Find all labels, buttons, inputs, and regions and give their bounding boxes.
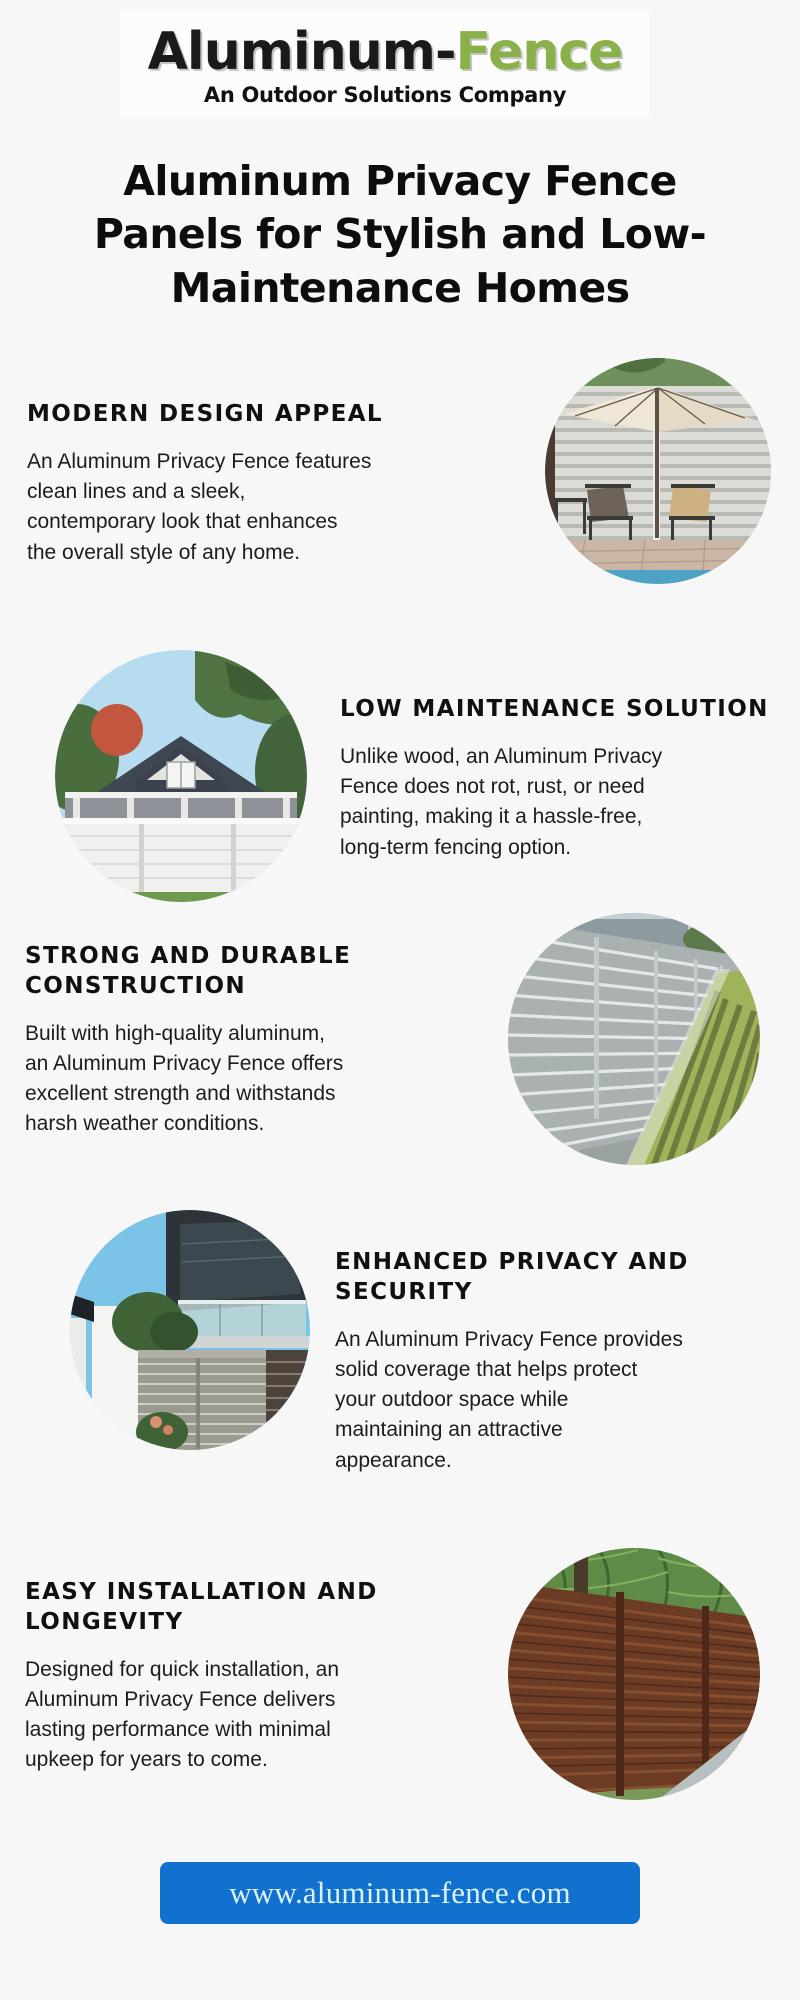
logo-word-fence: Fence	[456, 22, 623, 82]
section-heading: ENHANCED PRIVACY AND SECURITY	[335, 1248, 775, 1308]
logo-word-aluminum: Aluminum-	[148, 22, 456, 82]
white-privacy-fence-house-photo	[55, 650, 307, 902]
website-url-button[interactable]: www.aluminum-fence.com	[160, 1862, 640, 1924]
gray-slat-fence-lawn-photo	[508, 913, 760, 1165]
brand-logo: Aluminum-Fence An Outdoor Solutions Comp…	[120, 10, 650, 118]
logo-wordmark: Aluminum-Fence	[148, 25, 623, 80]
section-heading: MODERN DESIGN APPEAL	[27, 400, 467, 430]
page-title: Aluminum Privacy Fence Panels for Stylis…	[55, 155, 745, 315]
section-strong-and-durable-construction: STRONG AND DURABLE CONSTRUCTION Built wi…	[25, 942, 445, 1140]
section-heading: EASY INSTALLATION AND LONGEVITY	[25, 1578, 445, 1638]
section-enhanced-privacy-and-security: ENHANCED PRIVACY AND SECURITY An Aluminu…	[335, 1248, 775, 1476]
brown-woodgrain-fence-palm-photo	[508, 1548, 760, 1800]
infographic-page: Aluminum-Fence An Outdoor Solutions Comp…	[0, 0, 800, 2000]
website-url-label: www.aluminum-fence.com	[229, 1875, 571, 1911]
logo-tagline: An Outdoor Solutions Company	[204, 83, 566, 107]
modern-home-glass-balcony-fence-photo	[70, 1210, 310, 1450]
section-heading: LOW MAINTENANCE SOLUTION	[340, 695, 785, 725]
section-heading: STRONG AND DURABLE CONSTRUCTION	[25, 942, 445, 1002]
section-body: Unlike wood, an Aluminum Privacy Fence d…	[340, 742, 785, 863]
section-body: An Aluminum Privacy Fence features clean…	[27, 447, 467, 568]
section-body: Built with high-quality aluminum, an Alu…	[25, 1019, 445, 1140]
section-body: An Aluminum Privacy Fence provides solid…	[335, 1325, 775, 1476]
section-low-maintenance-solution: LOW MAINTENANCE SOLUTION Unlike wood, an…	[340, 695, 785, 863]
section-modern-design-appeal: MODERN DESIGN APPEAL An Aluminum Privacy…	[27, 400, 467, 568]
patio-umbrella-chairs-slat-fence-photo	[545, 358, 771, 584]
section-body: Designed for quick installation, an Alum…	[25, 1655, 445, 1776]
section-easy-installation-and-longevity: EASY INSTALLATION AND LONGEVITY Designed…	[25, 1578, 445, 1776]
